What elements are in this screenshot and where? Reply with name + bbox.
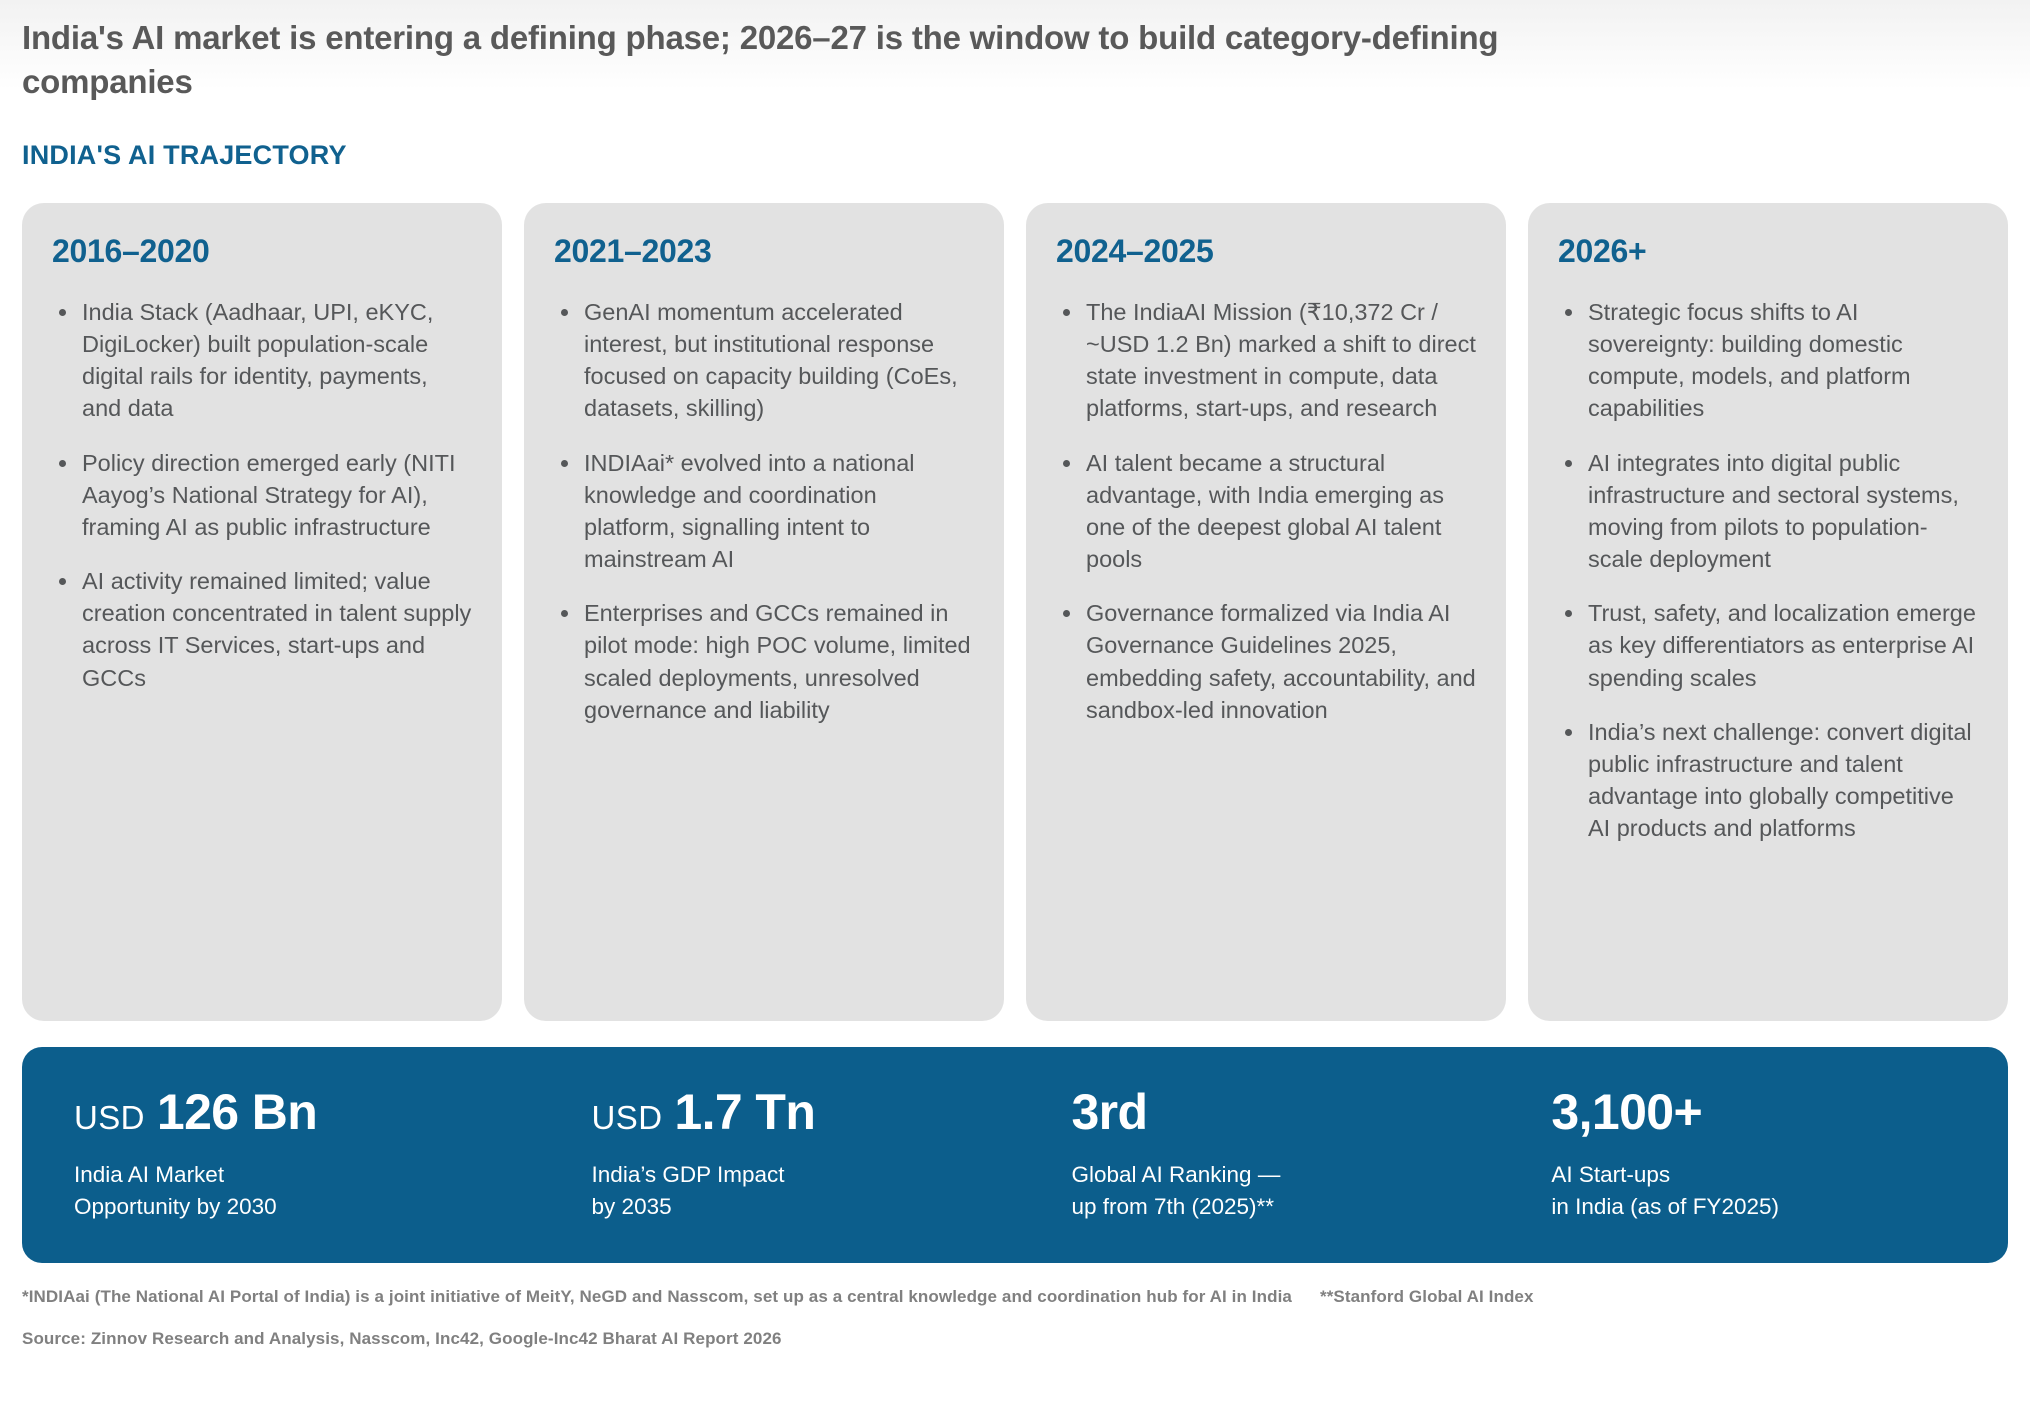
phase-bullet-list: Strategic focus shifts to AI sovereignty… — [1558, 296, 1978, 845]
bullet-text: AI activity remained limited; value crea… — [82, 568, 471, 691]
stat-currency-prefix: USD — [592, 1099, 663, 1137]
stat-value: 3,100+ — [1551, 1083, 1956, 1141]
bullet-text: AI talent became a structural advantage,… — [1086, 450, 1444, 573]
section-label: INDIA'S AI TRAJECTORY — [22, 140, 2008, 171]
phase-card-2024-2025: 2024–2025 The IndiaAI Mission (₹10,372 C… — [1026, 203, 1506, 1021]
phase-card-2016-2020: 2016–2020 India Stack (Aadhaar, UPI, eKY… — [22, 203, 502, 1021]
stat-description-line-2: Opportunity by 2030 — [74, 1191, 592, 1223]
stat-number: 1.7 Tn — [674, 1083, 815, 1141]
list-item: Policy direction emerged early (NITI Aay… — [52, 447, 472, 544]
bullet-dot-icon — [1565, 610, 1572, 617]
infographic-page: India's AI market is entering a defining… — [0, 0, 2030, 1416]
bullet-dot-icon — [1063, 610, 1070, 617]
stat-description-line-1: India’s GDP Impact — [592, 1159, 1072, 1191]
list-item: INDIAai* evolved into a national knowled… — [554, 447, 974, 576]
stat-description-line-2: in India (as of FY2025) — [1551, 1191, 1956, 1223]
bullet-text: Strategic focus shifts to AI sovereignty… — [1588, 299, 1911, 422]
stat-global-ai-ranking: 3rd Global AI Ranking — up from 7th (202… — [1071, 1083, 1551, 1223]
list-item: Strategic focus shifts to AI sovereignty… — [1558, 296, 1978, 425]
bullet-dot-icon — [1565, 309, 1572, 316]
bullet-dot-icon — [561, 460, 568, 467]
stat-value: 3rd — [1071, 1083, 1551, 1141]
bullet-dot-icon — [1063, 309, 1070, 316]
stat-india-ai-market-opportunity: USD 126 Bn India AI Market Opportunity b… — [74, 1083, 592, 1223]
stat-description: AI Start-ups in India (as of FY2025) — [1551, 1159, 1956, 1223]
list-item: India Stack (Aadhaar, UPI, eKYC, DigiLoc… — [52, 296, 472, 425]
key-stats-bar: USD 126 Bn India AI Market Opportunity b… — [22, 1047, 2008, 1263]
stat-description-line-1: India AI Market — [74, 1159, 592, 1191]
bullet-dot-icon — [1063, 460, 1070, 467]
stat-gdp-impact: USD 1.7 Tn India’s GDP Impact by 2035 — [592, 1083, 1072, 1223]
stat-description-line-1: Global AI Ranking — — [1071, 1159, 1551, 1191]
bullet-dot-icon — [561, 610, 568, 617]
bullet-dot-icon — [561, 309, 568, 316]
footnote-row: *INDIAai (The National AI Portal of Indi… — [22, 1287, 2008, 1307]
stat-description: Global AI Ranking — up from 7th (2025)** — [1071, 1159, 1551, 1223]
phase-card-title: 2016–2020 — [52, 233, 472, 270]
stat-currency-prefix: USD — [74, 1099, 145, 1137]
phase-bullet-list: GenAI momentum accelerated interest, but… — [554, 296, 974, 726]
phase-cards-container: 2016–2020 India Stack (Aadhaar, UPI, eKY… — [22, 203, 2008, 1021]
bullet-text: India Stack (Aadhaar, UPI, eKYC, DigiLoc… — [82, 299, 433, 422]
footnote-stanford-index: **Stanford Global AI Index — [1320, 1287, 1534, 1307]
phase-card-2021-2023: 2021–2023 GenAI momentum accelerated int… — [524, 203, 1004, 1021]
source-line: Source: Zinnov Research and Analysis, Na… — [22, 1329, 2008, 1349]
page-headline: India's AI market is entering a defining… — [22, 0, 1582, 104]
stat-number: 3rd — [1071, 1083, 1147, 1141]
bullet-text: Enterprises and GCCs remained in pilot m… — [584, 600, 971, 723]
stat-number: 126 Bn — [157, 1083, 317, 1141]
bullet-dot-icon — [59, 309, 66, 316]
stat-description-line-2: up from 7th (2025)** — [1071, 1191, 1551, 1223]
list-item: AI activity remained limited; value crea… — [52, 565, 472, 694]
phase-card-title: 2024–2025 — [1056, 233, 1476, 270]
list-item: Enterprises and GCCs remained in pilot m… — [554, 597, 974, 726]
list-item: AI talent became a structural advantage,… — [1056, 447, 1476, 576]
bullet-dot-icon — [1565, 729, 1572, 736]
stat-number: 3,100+ — [1551, 1083, 1702, 1141]
stat-description: India AI Market Opportunity by 2030 — [74, 1159, 592, 1223]
bullet-text: INDIAai* evolved into a national knowled… — [584, 450, 915, 573]
bullet-text: Trust, safety, and localization emerge a… — [1588, 600, 1976, 690]
list-item: Trust, safety, and localization emerge a… — [1558, 597, 1978, 694]
phase-card-title: 2026+ — [1558, 233, 1978, 270]
stat-description-line-2: by 2035 — [592, 1191, 1072, 1223]
list-item: GenAI momentum accelerated interest, but… — [554, 296, 974, 425]
stat-description: India’s GDP Impact by 2035 — [592, 1159, 1072, 1223]
list-item: AI integrates into digital public infras… — [1558, 447, 1978, 576]
phase-card-2026-plus: 2026+ Strategic focus shifts to AI sover… — [1528, 203, 2008, 1021]
list-item: India’s next challenge: convert digital … — [1558, 716, 1978, 845]
bullet-text: Governance formalized via India AI Gover… — [1086, 600, 1476, 723]
stat-value: USD 126 Bn — [74, 1083, 592, 1141]
bullet-text: GenAI momentum accelerated interest, but… — [584, 299, 958, 422]
bullet-text: India’s next challenge: convert digital … — [1588, 719, 1972, 842]
bullet-dot-icon — [59, 578, 66, 585]
stat-value: USD 1.7 Tn — [592, 1083, 1072, 1141]
phase-card-title: 2021–2023 — [554, 233, 974, 270]
list-item: The IndiaAI Mission (₹10,372 Cr / ~USD 1… — [1056, 296, 1476, 425]
stat-description-line-1: AI Start-ups — [1551, 1159, 1956, 1191]
bullet-dot-icon — [1565, 460, 1572, 467]
bullet-dot-icon — [59, 460, 66, 467]
footnote-indiaai: *INDIAai (The National AI Portal of Indi… — [22, 1287, 1292, 1307]
phase-bullet-list: India Stack (Aadhaar, UPI, eKYC, DigiLoc… — [52, 296, 472, 694]
phase-bullet-list: The IndiaAI Mission (₹10,372 Cr / ~USD 1… — [1056, 296, 1476, 726]
stat-ai-startups: 3,100+ AI Start-ups in India (as of FY20… — [1551, 1083, 1956, 1223]
footnotes-section: *INDIAai (The National AI Portal of Indi… — [22, 1287, 2008, 1349]
bullet-text: AI integrates into digital public infras… — [1588, 450, 1959, 573]
bullet-text: The IndiaAI Mission (₹10,372 Cr / ~USD 1… — [1086, 299, 1476, 422]
bullet-text: Policy direction emerged early (NITI Aay… — [82, 450, 456, 540]
list-item: Governance formalized via India AI Gover… — [1056, 597, 1476, 726]
